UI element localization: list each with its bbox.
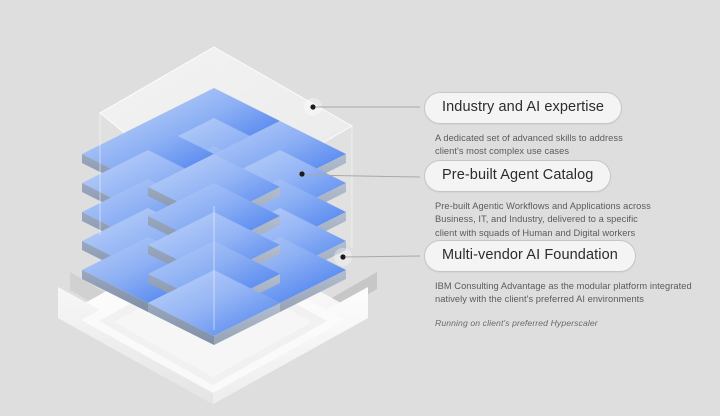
callout-industry-and-ai-expertise: Industry and AI expertise A dedicated se… [424,92,720,159]
callout-description-line: Pre-built Agentic Workflows and Applicat… [435,200,685,214]
callout-list: Industry and AI expertise A dedicated se… [424,0,720,416]
callout-description-pre-built-agent-catalog: Pre-built Agentic Workflows and Applicat… [435,200,685,241]
callout-title-pre-built-agent-catalog[interactable]: Pre-built Agent Catalog [424,160,611,192]
callout-description-multi-vendor-ai-foundation: IBM Consulting Advantage as the modular … [435,280,685,308]
callout-description-line: A dedicated set of advanced skills to ad… [435,132,685,146]
hyperscaler-footnote: Running on client's preferred Hyperscale… [435,318,598,328]
callout-title-industry-and-ai-expertise[interactable]: Industry and AI expertise [424,92,622,124]
callout-description-line: Business, IT, and Industry, delivered to… [435,213,685,227]
callout-description-line: client with squads of Human and Digital … [435,227,685,241]
connector-multi-vendor-ai-foundation [334,248,420,266]
callout-description-industry-and-ai-expertise: A dedicated set of advanced skills to ad… [435,132,685,160]
callout-description-line: client's most complex use cases [435,145,685,159]
callout-description-line: IBM Consulting Advantage as the modular … [435,280,685,294]
callout-pre-built-agent-catalog: Pre-built Agent Catalog Pre-built Agenti… [424,160,720,241]
callout-multi-vendor-ai-foundation: Multi-vendor AI Foundation IBM Consultin… [424,240,720,307]
callout-title-multi-vendor-ai-foundation[interactable]: Multi-vendor AI Foundation [424,240,636,272]
slide-canvas: Industry and AI expertise A dedicated se… [0,0,720,416]
isometric-platform-diagram [0,0,420,416]
callout-description-line: natively with the client's preferred AI … [435,293,685,307]
